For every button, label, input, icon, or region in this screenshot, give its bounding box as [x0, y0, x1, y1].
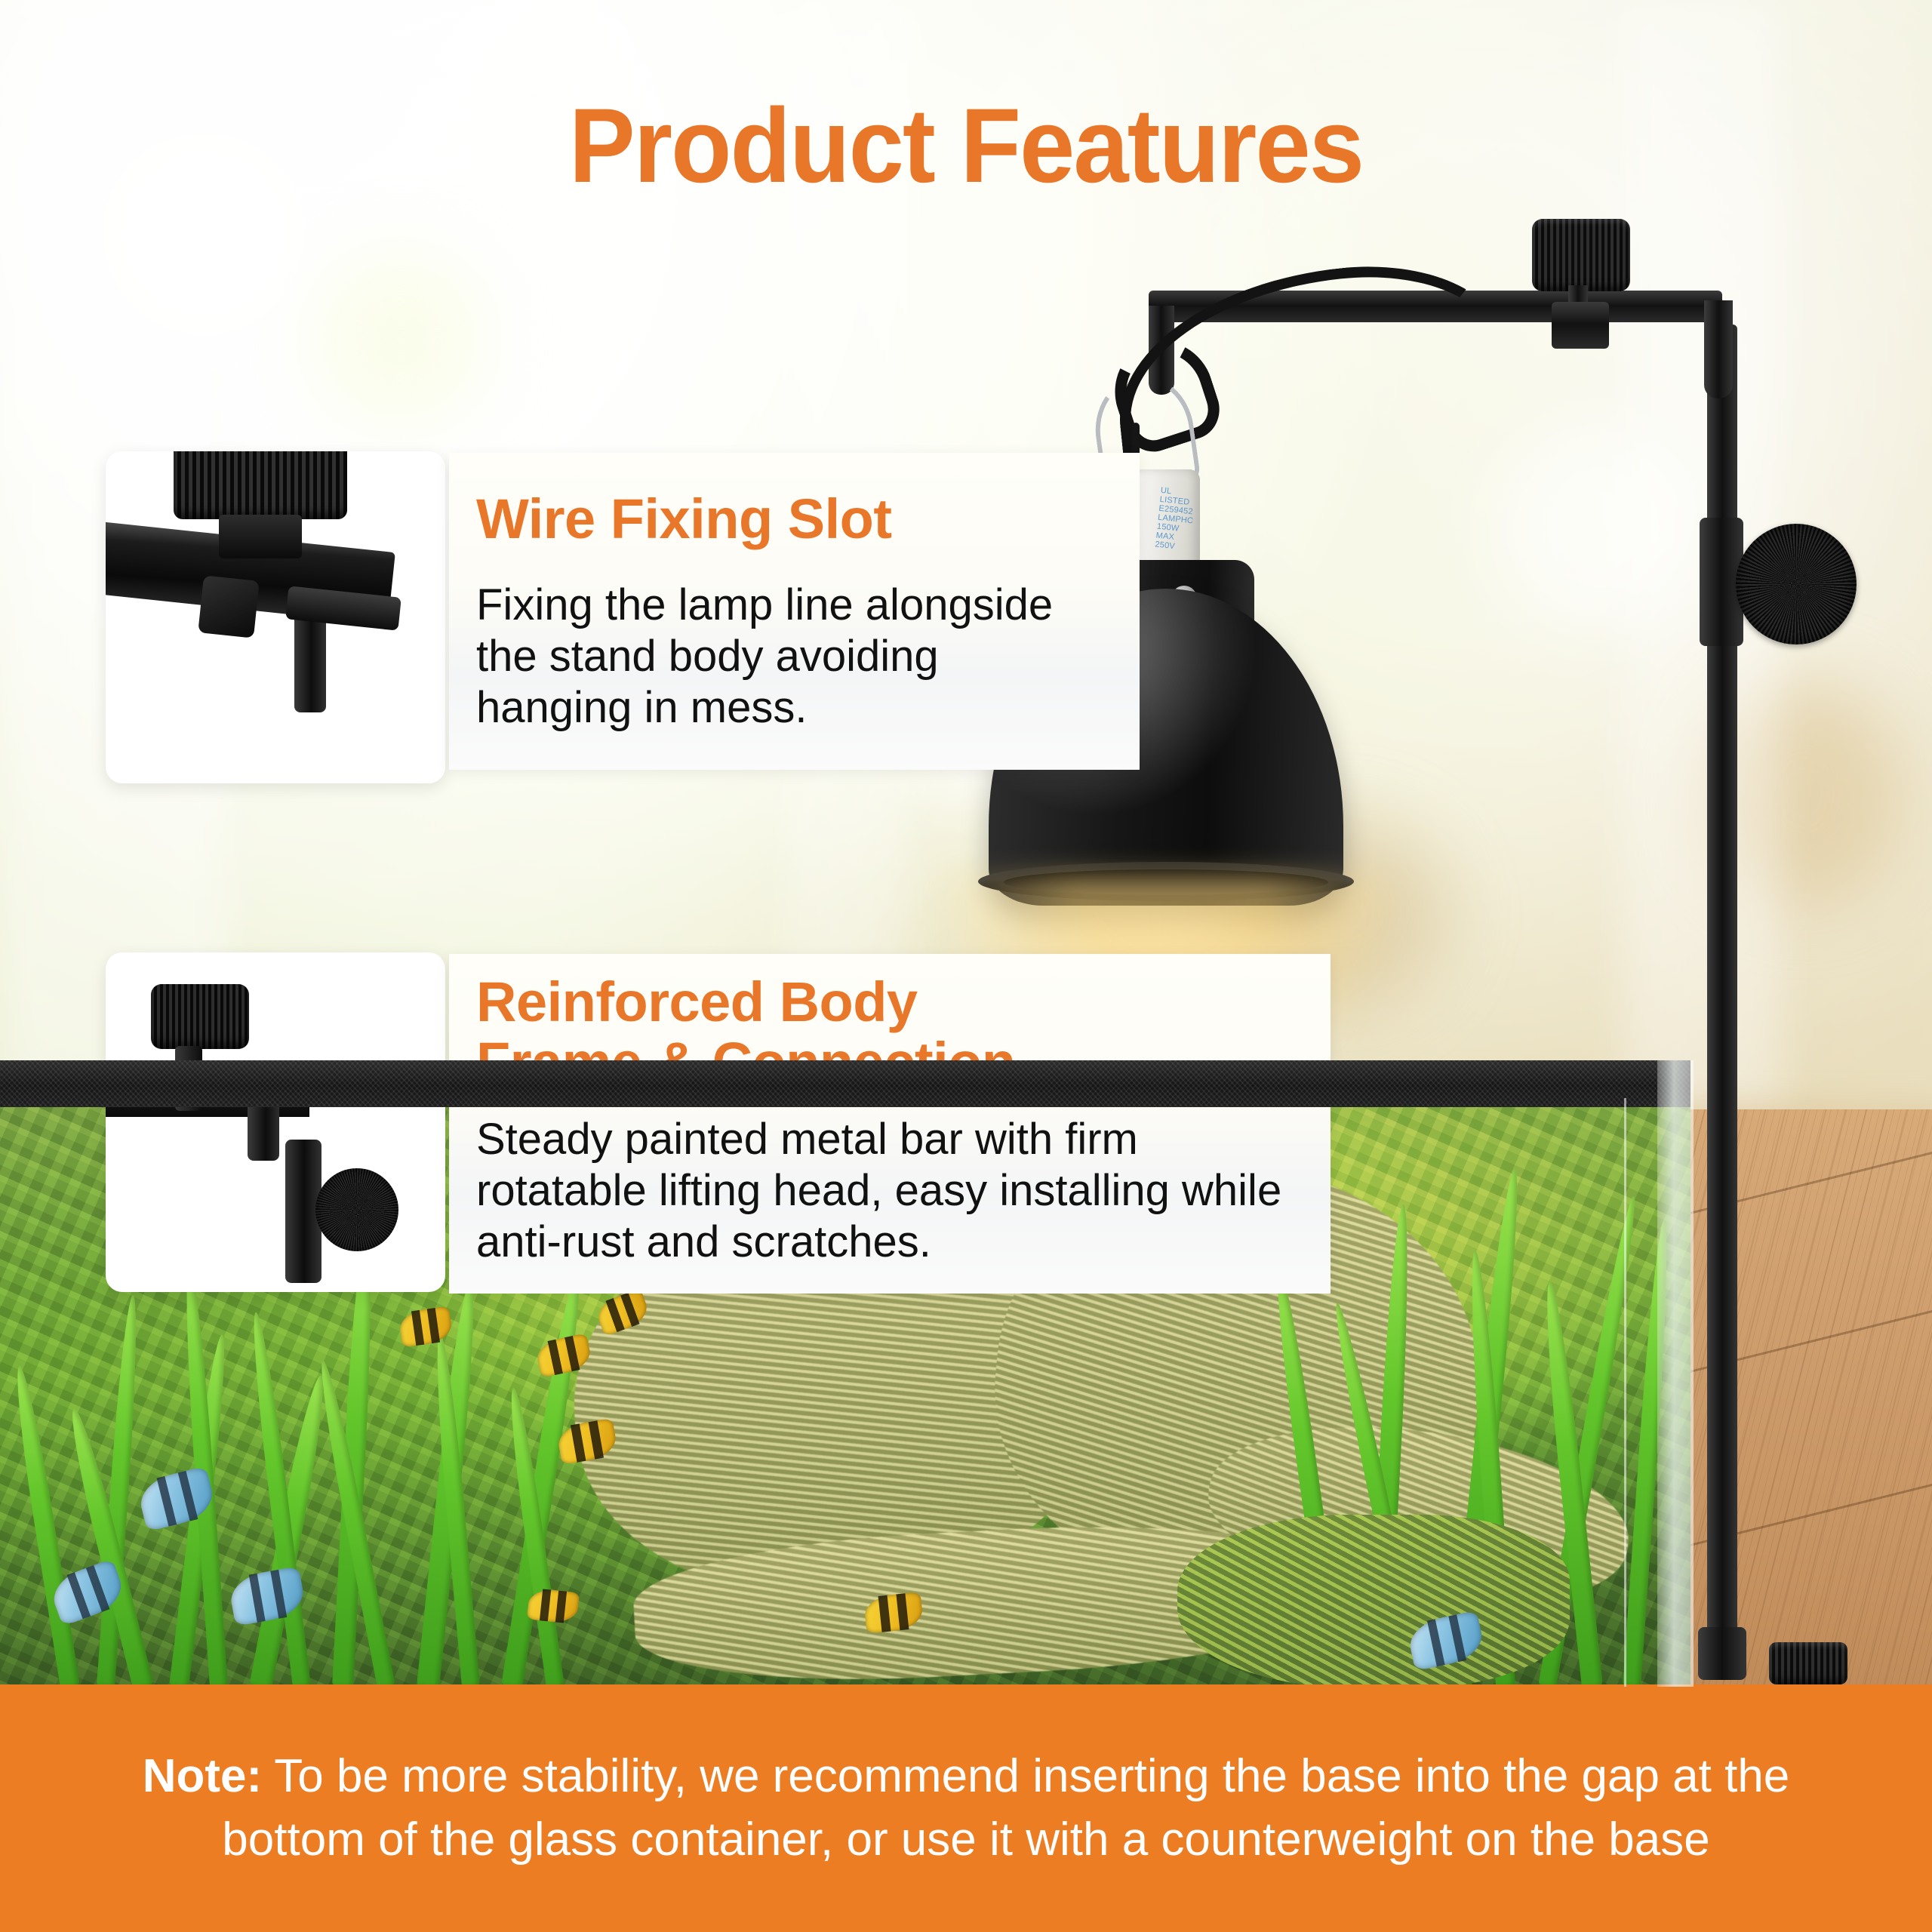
tank-top-rim — [0, 1060, 1690, 1107]
feature-2-body: Steady painted metal bar with firm rotat… — [476, 1114, 1306, 1268]
feature-2-text-card: Reinforced Body Frame & Connection Stead… — [449, 954, 1331, 1294]
closeup-wire-slot-clip — [198, 575, 260, 638]
closeup-thumb-knob — [174, 451, 347, 519]
note-text: Note: To be more stability, we recommend… — [38, 1745, 1894, 1872]
tank-glass-seam — [1624, 1098, 1626, 1687]
feature-1-title: Wire Fixing Slot — [476, 489, 891, 549]
closeup-knob-stem — [219, 515, 302, 558]
feature-2-title-line1: Reinforced Body — [476, 972, 918, 1032]
note-body: To be more stability, we recommend inser… — [222, 1750, 1789, 1866]
note-label: Note: — [143, 1750, 262, 1802]
feature-1-text-card: Wire Fixing Slot Fixing the lamp line al… — [449, 453, 1140, 770]
feature-1-body: Fixing the lamp line alongside the stand… — [476, 580, 1095, 734]
feature-2-thumbnail — [106, 952, 445, 1292]
product-features-poster: UL LISTED E259452 LAMPHOLDER 150W MAX 25… — [0, 0, 1932, 1932]
closeup2-side-knob — [315, 1168, 398, 1251]
closeup2-top-knob — [151, 984, 249, 1049]
feature-1-thumbnail — [106, 451, 445, 783]
stand-arm-elbow — [1704, 300, 1733, 398]
tank-glass-right-panel — [1657, 1060, 1694, 1687]
page-title: Product Features — [58, 89, 1874, 202]
stand-pole-foot — [1698, 1627, 1746, 1680]
stand-base-knob[interactable] — [1769, 1642, 1847, 1684]
stand-arm-clamp — [1552, 302, 1609, 349]
tank-mossy-rock — [1177, 1515, 1570, 1687]
stand-height-knob[interactable] — [1736, 524, 1857, 645]
stand-top-knob[interactable] — [1532, 219, 1630, 291]
note-bar: Note: To be more stability, we recommend… — [0, 1684, 1932, 1932]
socket-rating-print: UL LISTED E259452 LAMPHOLDER 150W MAX 25… — [1155, 486, 1196, 554]
